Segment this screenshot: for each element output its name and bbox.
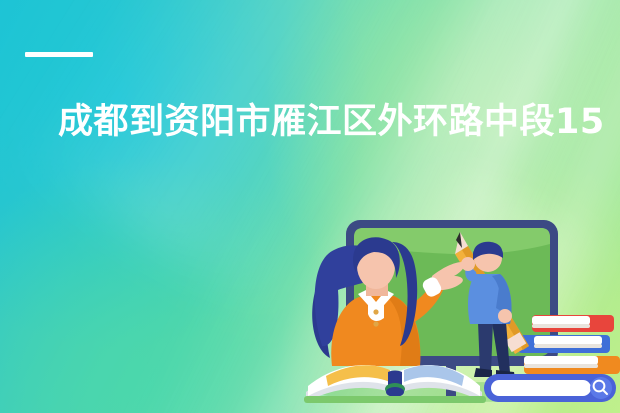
book-stack (518, 315, 620, 374)
search-input (491, 380, 591, 396)
education-illustration (296, 196, 620, 413)
search-bar[interactable] (484, 374, 616, 402)
open-book (304, 365, 486, 403)
page-title: 成都到资阳市雁江区外环路中段15 (58, 99, 620, 145)
accent-rule (25, 52, 93, 57)
promotional-banner: 成都到资阳市雁江区外环路中段15 (0, 0, 620, 413)
